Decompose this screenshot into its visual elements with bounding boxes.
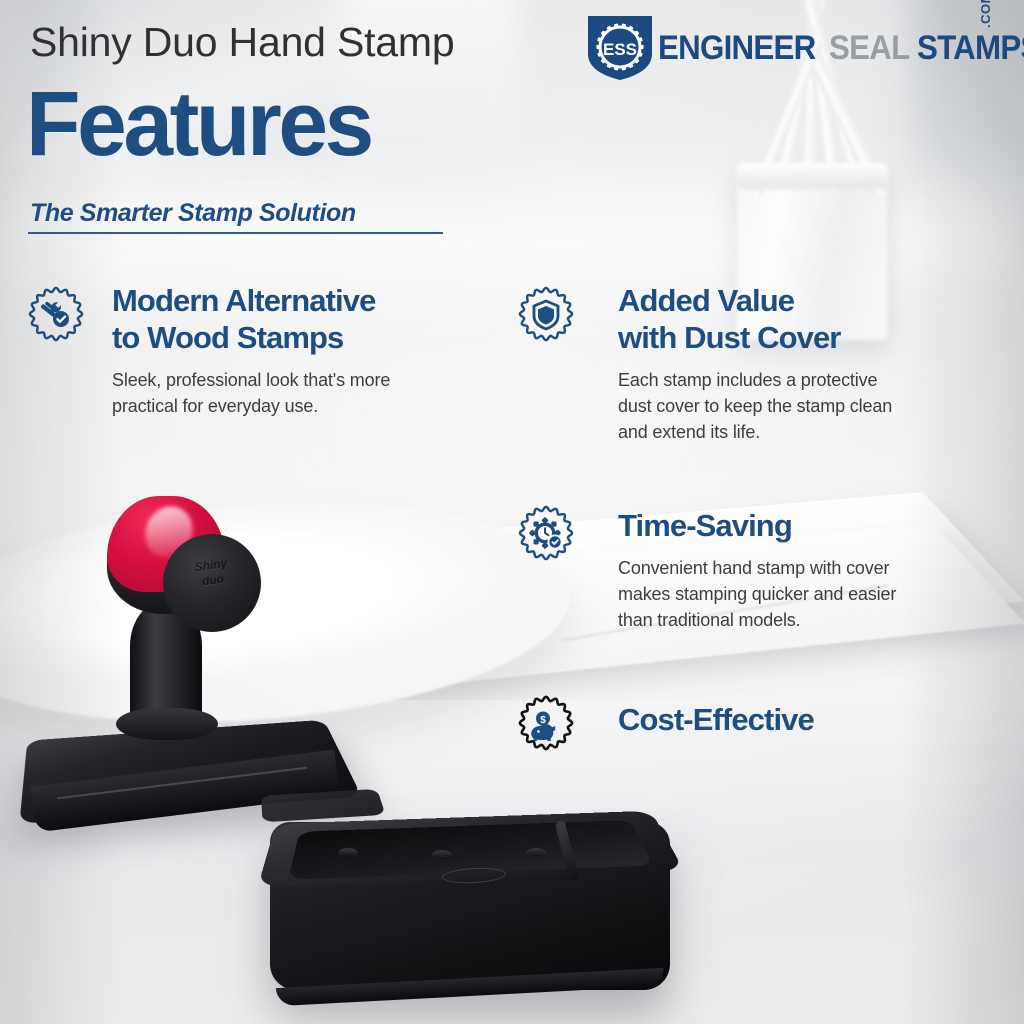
brand-word-engineer: ENGINEER [658, 28, 815, 68]
dust-cover-back-edge [261, 789, 385, 822]
feature-title: Added Value with Dust Cover [618, 282, 988, 356]
feature-title: Time-Saving [618, 507, 988, 544]
brand-word-seal: SEAL [829, 28, 909, 68]
stamp-collar [116, 708, 218, 740]
tagline-underline [28, 232, 443, 234]
brand-domain-suffix: .COM [978, 0, 993, 28]
svg-text:ESS: ESS [603, 40, 637, 59]
feature-description: Sleek, professional look that's more pra… [112, 367, 512, 419]
stamp-brand-line-2: duo [201, 572, 225, 589]
feature-text: Added Value with Dust Cover Each stamp i… [618, 282, 988, 445]
feature-title: Cost-Effective [618, 701, 988, 738]
svg-text:$: $ [540, 715, 546, 726]
feature-text: Time-Saving Convenient hand stamp with c… [618, 507, 988, 633]
brand-logo[interactable]: ESS ENGINEERSEALSTAMPS .COM [586, 12, 1006, 84]
dust-cover-dot [432, 850, 452, 859]
feature-description: Each stamp includes a protective dust co… [618, 367, 988, 445]
brand-wordmark: ENGINEERSEALSTAMPS [658, 28, 1024, 68]
gear-clock-check-badge-icon [518, 505, 574, 561]
headline: Features [26, 78, 371, 170]
infographic-canvas: Shiny Duo Hand Stamp ESS ENGINEERSEALSTA… [0, 0, 1024, 1024]
tagline: The Smarter Stamp Solution [30, 199, 356, 228]
wrench-check-badge-icon [28, 286, 84, 342]
header: Shiny Duo Hand Stamp ESS ENGINEERSEALSTA… [0, 0, 1024, 246]
feature-text: Cost-Effective [618, 701, 988, 749]
dust-cover-dot [338, 848, 358, 857]
feature-description: Convenient hand stamp with cover makes s… [618, 555, 988, 633]
ess-shield-gear-icon: ESS [586, 14, 654, 82]
shield-badge-icon [518, 286, 574, 342]
dust-cover-dot [526, 848, 546, 857]
product-dust-cover [262, 782, 682, 1020]
feature-title: Modern Alternative to Wood Stamps [112, 282, 512, 356]
brand-word-stamps: STAMPS [917, 28, 1024, 68]
page-title: Shiny Duo Hand Stamp [30, 19, 454, 66]
piggy-bank-badge-icon: $ [518, 695, 574, 751]
feature-text: Modern Alternative to Wood Stamps Sleek,… [112, 282, 512, 419]
stamp-brand-emboss: Shiny duo [177, 554, 248, 607]
